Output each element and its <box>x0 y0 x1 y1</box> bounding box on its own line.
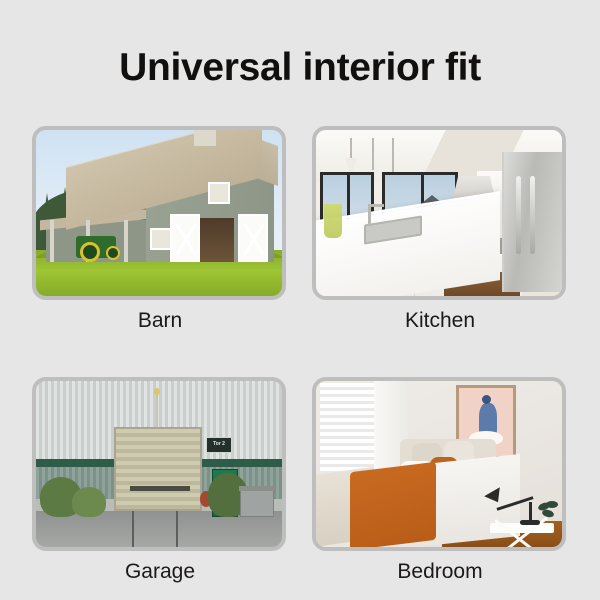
barn-photo <box>36 130 282 296</box>
image-grid: Barn <box>32 126 568 584</box>
kitchen-photo <box>316 130 562 296</box>
image-card-garage[interactable]: Tor 2 <box>32 377 286 551</box>
stainless-refrigerator <box>502 152 562 292</box>
card-caption-barn: Barn <box>32 308 288 333</box>
garage-photo: Tor 2 <box>36 381 282 547</box>
page-title: Universal interior fit <box>0 48 600 87</box>
grid-cell-barn: Barn <box>32 126 288 333</box>
image-card-kitchen[interactable] <box>312 126 566 300</box>
potted-plant <box>538 501 560 521</box>
door-number-sign: Tor 2 <box>206 437 232 453</box>
tractor-wheel <box>80 242 100 262</box>
grid-row-top: Barn <box>32 126 568 333</box>
barn-doorway <box>200 218 234 262</box>
card-caption-kitchen: Kitchen <box>312 308 568 333</box>
grid-cell-bedroom: Bedroom <box>312 377 568 584</box>
barn-side-window <box>150 228 172 250</box>
sign-text: Tor 2 <box>207 438 231 450</box>
barn-door-right <box>238 214 268 262</box>
image-card-barn[interactable] <box>32 126 286 300</box>
barn-loft-window <box>208 182 230 204</box>
lamp-base <box>520 520 540 525</box>
lamp-post <box>529 502 532 522</box>
faucet <box>368 204 371 226</box>
card-caption-garage: Garage <box>32 559 288 584</box>
grid-cell-garage: Tor 2 Garage <box>32 377 288 584</box>
product-feature-page: Universal interior fit <box>0 0 600 600</box>
image-card-bedroom[interactable] <box>312 377 566 551</box>
roll-up-garage-door <box>114 427 202 511</box>
card-caption-bedroom: Bedroom <box>312 559 568 584</box>
grid-cell-kitchen: Kitchen <box>312 126 568 333</box>
barn-door-left <box>170 214 200 262</box>
bedroom-photo <box>316 381 562 547</box>
plant-vase <box>324 204 342 238</box>
barn-cupola <box>194 130 216 146</box>
grid-row-bottom: Tor 2 Garage <box>32 377 568 584</box>
tractor-wheel-front <box>106 246 120 260</box>
rust-throw-blanket <box>350 462 436 547</box>
dumpster <box>240 489 274 517</box>
flag-pole <box>156 393 158 427</box>
